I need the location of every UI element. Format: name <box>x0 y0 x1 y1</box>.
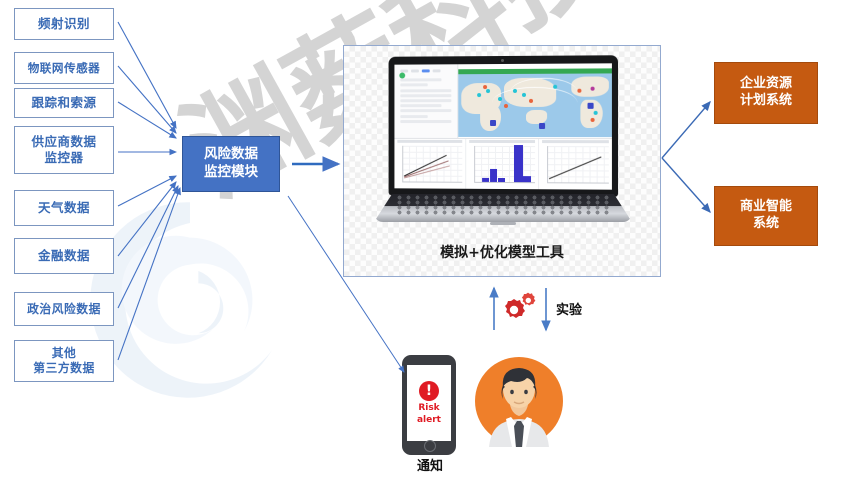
source-box-weather[interactable]: 天气数据 <box>14 190 114 226</box>
sidebar-field <box>400 78 441 81</box>
simulation-tool-panel: 模拟+优化模型工具 <box>343 45 661 277</box>
laptop-lid <box>389 55 618 197</box>
toolbar-icon-active <box>422 69 430 72</box>
risk-alert-icon: ! <box>419 381 439 401</box>
module-label-line2: 监控模块 <box>204 164 258 182</box>
output-label-line1: 商业智能 <box>740 199 792 216</box>
laptop-base <box>374 194 632 222</box>
route-arc <box>492 86 578 118</box>
module-label-line1: 风险数据 <box>204 146 258 164</box>
source-label-line1: 供应商数据 <box>31 134 96 150</box>
regression-chart[interactable] <box>539 139 612 190</box>
source-box-tracking[interactable]: 跟踪和索源 <box>14 88 114 118</box>
source-box-political-risk[interactable]: 政治风险数据 <box>14 292 114 326</box>
experiment-label: 实验 <box>556 299 582 318</box>
x-axis <box>402 181 462 182</box>
world-map[interactable] <box>459 68 612 136</box>
y-axis <box>474 146 475 183</box>
webcam-icon <box>501 59 504 62</box>
laptop-screen <box>394 63 611 189</box>
source-label-line2: 第三方数据 <box>33 361 95 376</box>
source-label-line2: 监控器 <box>44 150 83 166</box>
map-marker-alert <box>483 85 487 89</box>
chart-title-bar <box>542 140 609 143</box>
arrow-political-to-module <box>118 186 178 308</box>
sidebar-field <box>400 99 451 102</box>
gears-icon <box>497 292 537 324</box>
arrow-tracking-to-module <box>118 102 176 138</box>
histogram-chart[interactable] <box>466 139 539 189</box>
source-label: 政治风险数据 <box>27 302 101 317</box>
map-marker-alert <box>590 118 594 122</box>
map-marker <box>593 111 597 115</box>
sidebar-field <box>400 115 427 118</box>
chart-grid <box>547 146 609 183</box>
output-box-erp[interactable]: 企业资源 计划系统 <box>714 62 818 124</box>
bar <box>482 177 489 182</box>
sidebar-field <box>400 109 451 112</box>
arrow-laptop-to-erp <box>662 102 710 158</box>
source-box-finance[interactable]: 金融数据 <box>14 238 114 274</box>
source-box-iot-sensor[interactable]: 物联网传感器 <box>14 52 114 84</box>
analyst-avatar <box>473 355 565 447</box>
map-marker-hub <box>587 103 593 109</box>
source-box-other-thirdparty[interactable]: 其他 第三方数据 <box>14 340 114 382</box>
watermark-swirl-logo <box>86 196 294 404</box>
sidebar-field <box>400 84 427 87</box>
output-label-line2: 系统 <box>753 216 779 233</box>
sidebar-field <box>400 89 451 92</box>
risk-alert-line1: Risk <box>418 403 439 413</box>
laptop-caption: 模拟+优化模型工具 <box>344 242 660 262</box>
mobile-phone[interactable]: ! Risk alert <box>402 355 456 455</box>
map-marker-hub <box>539 123 545 129</box>
arrow-iot-to-module <box>118 66 176 133</box>
arrow-rfid-to-module <box>118 22 176 128</box>
chart-title-bar <box>397 140 462 143</box>
x-axis <box>547 182 609 183</box>
bar <box>490 169 497 182</box>
source-label: 跟踪和索源 <box>31 95 96 111</box>
bar <box>514 145 523 182</box>
arrow-other-to-module <box>118 188 180 360</box>
source-label: 物联网传感器 <box>28 61 101 75</box>
source-label: 金融数据 <box>38 248 90 264</box>
keyboard <box>395 195 612 215</box>
laptop-illustration <box>374 56 632 236</box>
trend-chart[interactable] <box>394 139 466 189</box>
source-label: 天气数据 <box>38 200 90 216</box>
arrow-laptop-to-bi <box>662 158 710 212</box>
sidebar-toolbar <box>397 68 454 76</box>
bar <box>498 177 505 182</box>
notification-caption: 通知 <box>386 455 474 474</box>
risk-data-monitoring-module[interactable]: 风险数据 监控模块 <box>182 136 280 192</box>
chart-title-bar <box>469 140 535 143</box>
output-label-line2: 计划系统 <box>740 93 792 110</box>
map-marker-special <box>590 86 594 90</box>
arrow-finance-to-module <box>118 182 176 256</box>
source-label: 频射识别 <box>38 16 90 32</box>
risk-alert-line2: alert <box>417 415 441 425</box>
arrow-weather-to-module <box>118 176 176 206</box>
trackpad <box>490 222 516 225</box>
sidebar-field <box>400 104 441 107</box>
output-box-bi[interactable]: 商业智能 系统 <box>714 186 818 246</box>
status-dot <box>399 73 405 79</box>
map-marker-hub <box>490 120 496 126</box>
sidebar-field <box>400 120 451 123</box>
home-button-icon[interactable] <box>424 440 436 452</box>
source-box-rfid[interactable]: 频射识别 <box>14 8 114 40</box>
map-progress-bar <box>459 68 612 74</box>
source-box-supplier-monitor[interactable]: 供应商数据 监控器 <box>14 126 114 174</box>
output-label-line1: 企业资源 <box>740 76 792 93</box>
dashboard-charts <box>394 138 611 190</box>
map-marker-alert <box>529 99 533 103</box>
phone-screen: ! Risk alert <box>407 365 451 441</box>
toolbar-icon <box>411 69 419 72</box>
toolbar-icon <box>433 69 441 72</box>
bar <box>523 176 531 183</box>
sidebar-field <box>400 94 451 97</box>
source-label-line1: 其他 <box>52 346 77 361</box>
